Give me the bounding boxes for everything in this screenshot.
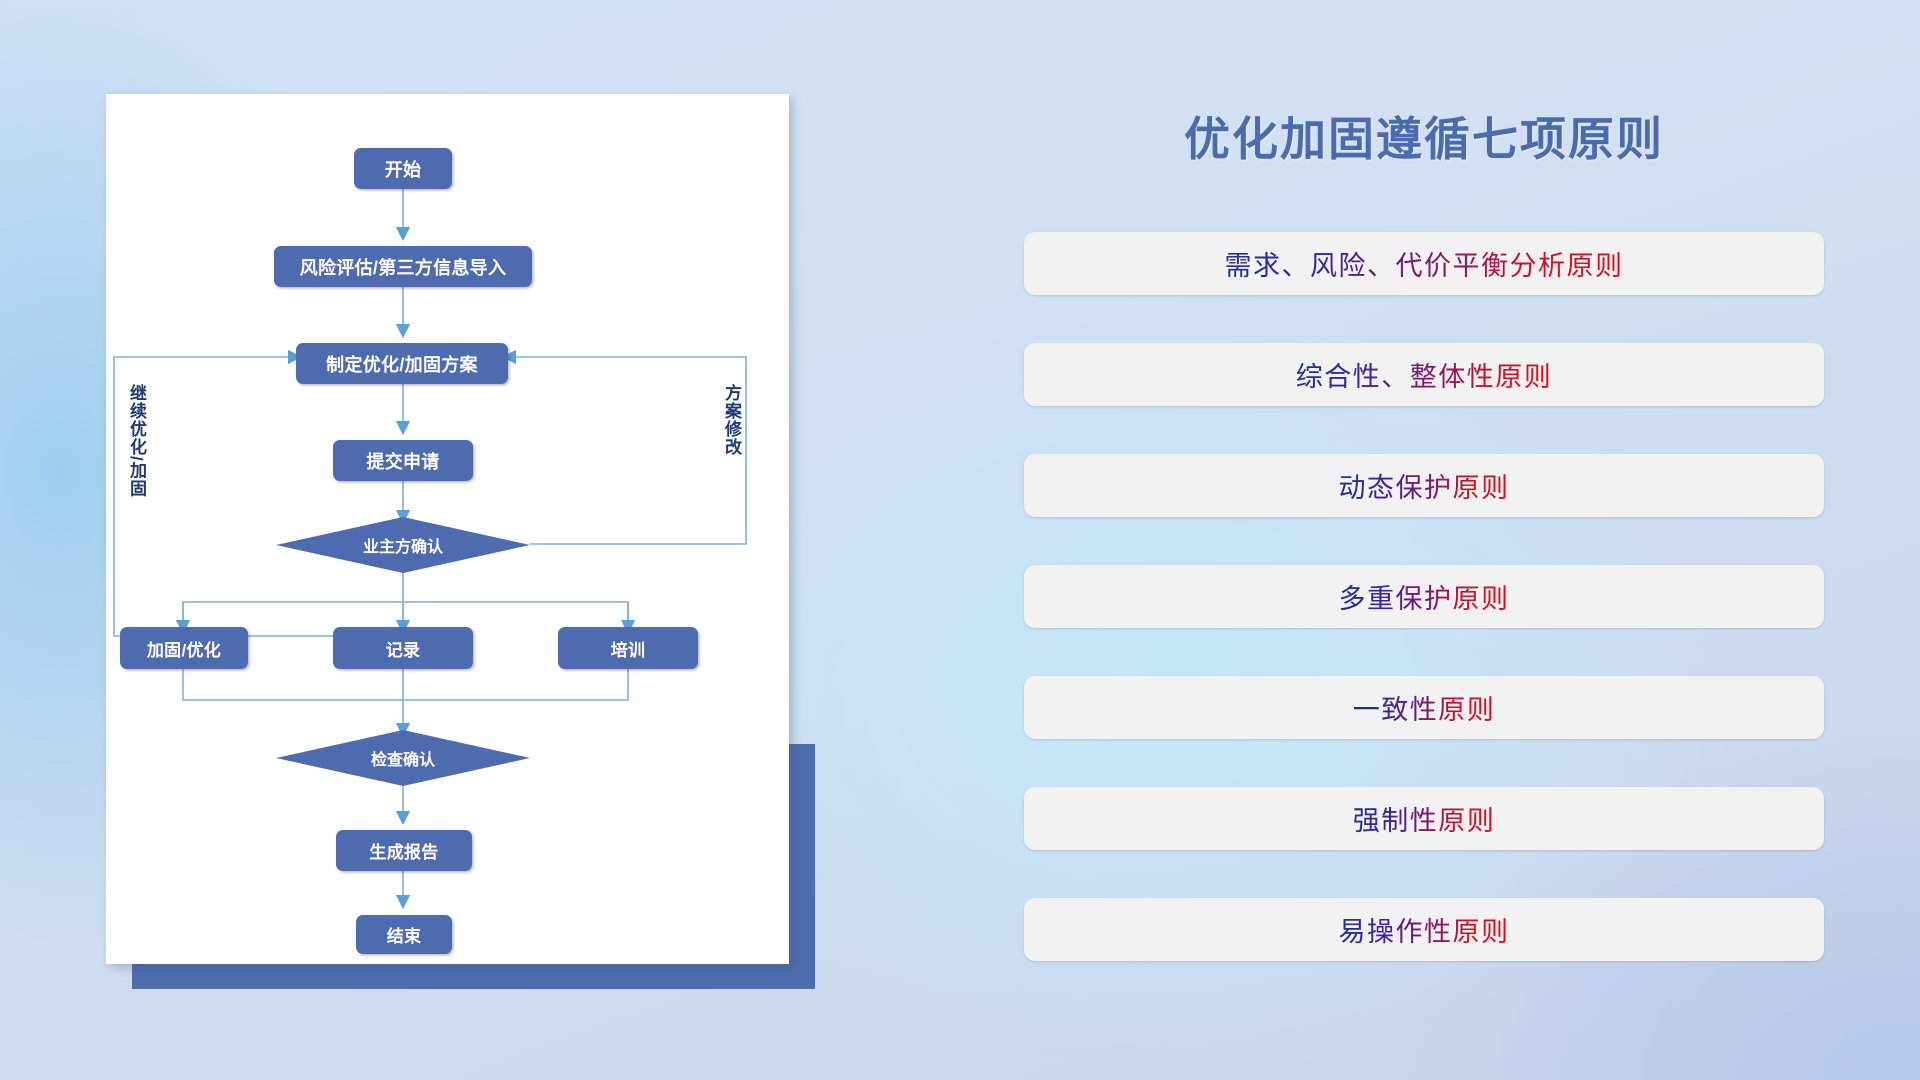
flowchart-card: 开始 风险评估/第三方信息导入 制定优化/加固方案 提交申请 业主方确认 加固/… <box>106 94 789 964</box>
flow-node-label: 提交申请 <box>366 448 439 474</box>
principle-item-2[interactable]: 综合性、整体性原则 <box>1024 343 1824 406</box>
principle-item-1[interactable]: 需求、风险、代价平衡分析原则 <box>1024 232 1824 295</box>
flow-node-start[interactable]: 开始 <box>354 148 452 189</box>
flow-node-label: 业主方确认 <box>363 533 443 557</box>
flow-edge-label-plan-revision: 方案修改 <box>723 384 740 456</box>
principle-label: 综合性、整体性原则 <box>1296 355 1553 394</box>
flow-node-label: 生成报告 <box>369 838 438 863</box>
flow-edge-label-continue-optimize: 继续优化/加固 <box>128 384 145 498</box>
flow-node-label: 制定优化/加固方案 <box>326 351 478 377</box>
page-title: 优化加固遵循七项原则 <box>1024 103 1824 169</box>
flow-node-owner-confirm[interactable]: 业主方确认 <box>276 517 530 573</box>
flow-node-check-confirm[interactable]: 检查确认 <box>276 730 530 786</box>
flow-node-label: 加固/优化 <box>147 636 221 661</box>
principle-item-5[interactable]: 一致性原则 <box>1024 676 1824 739</box>
flow-node-label: 开始 <box>385 156 422 182</box>
principle-label: 需求、风险、代价平衡分析原则 <box>1225 244 1624 283</box>
principle-item-4[interactable]: 多重保护原则 <box>1024 565 1824 628</box>
principle-item-7[interactable]: 易操作性原则 <box>1024 898 1824 961</box>
principle-label: 易操作性原则 <box>1339 910 1510 949</box>
principle-label: 动态保护原则 <box>1339 466 1510 505</box>
flow-node-risk-assessment[interactable]: 风险评估/第三方信息导入 <box>274 246 532 287</box>
flow-node-submit-application[interactable]: 提交申请 <box>333 440 473 481</box>
slide-canvas: 开始 风险评估/第三方信息导入 制定优化/加固方案 提交申请 业主方确认 加固/… <box>0 0 1920 1080</box>
flow-node-label: 风险评估/第三方信息导入 <box>300 254 507 280</box>
principle-label: 一致性原则 <box>1353 688 1496 727</box>
flow-node-generate-report[interactable]: 生成报告 <box>336 830 472 871</box>
flow-node-label: 检查确认 <box>371 746 435 770</box>
flow-node-training[interactable]: 培训 <box>558 627 698 669</box>
principles-list: 需求、风险、代价平衡分析原则 综合性、整体性原则 动态保护原则 多重保护原则 一… <box>1024 232 1824 1009</box>
principle-label: 多重保护原则 <box>1339 577 1510 616</box>
flow-node-record[interactable]: 记录 <box>333 627 473 669</box>
principle-item-3[interactable]: 动态保护原则 <box>1024 454 1824 517</box>
flow-node-label: 记录 <box>386 636 421 661</box>
flowchart: 开始 风险评估/第三方信息导入 制定优化/加固方案 提交申请 业主方确认 加固/… <box>106 94 789 964</box>
principle-label: 强制性原则 <box>1353 799 1496 838</box>
principle-item-6[interactable]: 强制性原则 <box>1024 787 1824 850</box>
flow-node-plan[interactable]: 制定优化/加固方案 <box>296 343 508 384</box>
flow-node-end[interactable]: 结束 <box>356 915 452 954</box>
flow-node-reinforce[interactable]: 加固/优化 <box>120 627 248 669</box>
flow-node-label: 培训 <box>611 636 646 661</box>
flow-node-label: 结束 <box>387 922 422 947</box>
